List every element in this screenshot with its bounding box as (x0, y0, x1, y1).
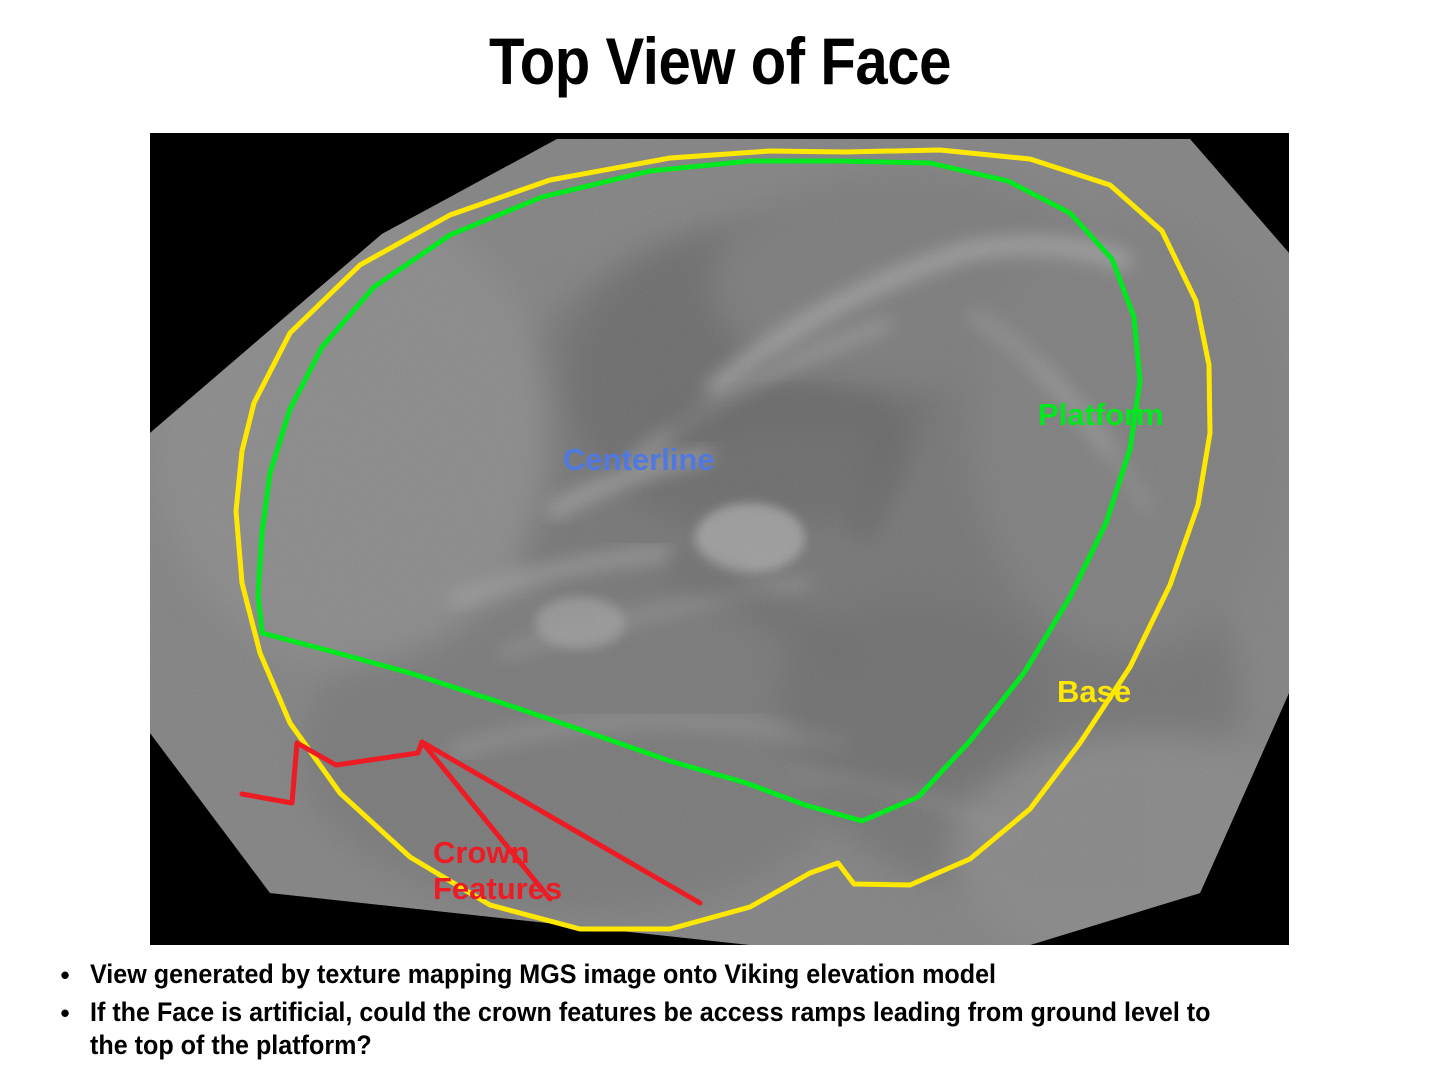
bullet-marker-icon: • (40, 958, 90, 992)
platform-label: Platform (1038, 397, 1164, 433)
base-label: Base (1057, 674, 1131, 710)
centerline-label: Centerline (563, 442, 715, 478)
list-item: • View generated by texture mapping MGS … (40, 958, 1330, 992)
bullet-text: View generated by texture mapping MGS im… (90, 958, 1243, 991)
list-item: • If the Face is artificial, could the c… (40, 996, 1330, 1062)
page-title: Top View of Face (86, 24, 1353, 98)
bullet-marker-icon: • (40, 996, 90, 1030)
terrain-map-svg (150, 133, 1289, 945)
top-view-of-face-figure: Platform Centerline Base Crown Features (150, 133, 1289, 945)
bullet-list: • View generated by texture mapping MGS … (40, 958, 1330, 1066)
crown-features-label: Crown Features (433, 835, 562, 907)
bullet-text: If the Face is artificial, could the cro… (90, 996, 1243, 1062)
